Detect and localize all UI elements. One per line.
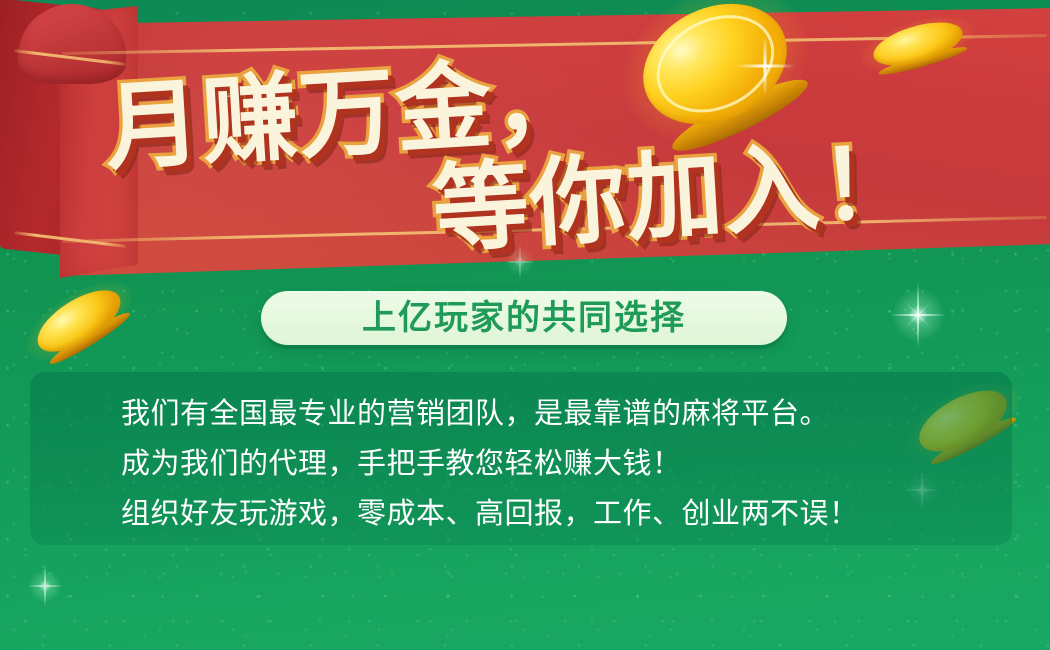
- coin-glint-sparkle-icon: [735, 36, 795, 96]
- coin-rim: [47, 308, 134, 369]
- description-line-2: 成为我们的代理，手把手教您轻松赚大钱！: [121, 442, 921, 484]
- coin-face: [28, 278, 130, 363]
- sparkle-bottom-left-icon: [28, 565, 62, 607]
- description-line-1: 我们有全国最专业的营销团队，是最靠谱的麻将平台。: [121, 392, 921, 434]
- description-lines: 我们有全国最专业的营销团队，是最靠谱的麻将平台。 成为我们的代理，手把手教您轻松…: [30, 392, 1012, 534]
- sparkle-top-right-icon: [890, 282, 946, 348]
- description-line-3: 组织好友玩游戏，零成本、高回报，工作、创业两不误！: [121, 492, 921, 534]
- description-card: 我们有全国最专业的营销团队，是最靠谱的麻将平台。 成为我们的代理，手把手教您轻松…: [30, 372, 1012, 545]
- tagline-pill-label: 上亿玩家的共同选择: [362, 301, 686, 335]
- promo-banner-page: 月赚万金， 等你加入！ 上亿玩家的共同选择 我们有全国最专业的营销团队，是最靠谱…: [0, 0, 1050, 650]
- gold-coin-left-icon: [28, 278, 130, 363]
- ribbon-banner: [0, 0, 1050, 290]
- tagline-pill-badge[interactable]: 上亿玩家的共同选择: [261, 291, 787, 345]
